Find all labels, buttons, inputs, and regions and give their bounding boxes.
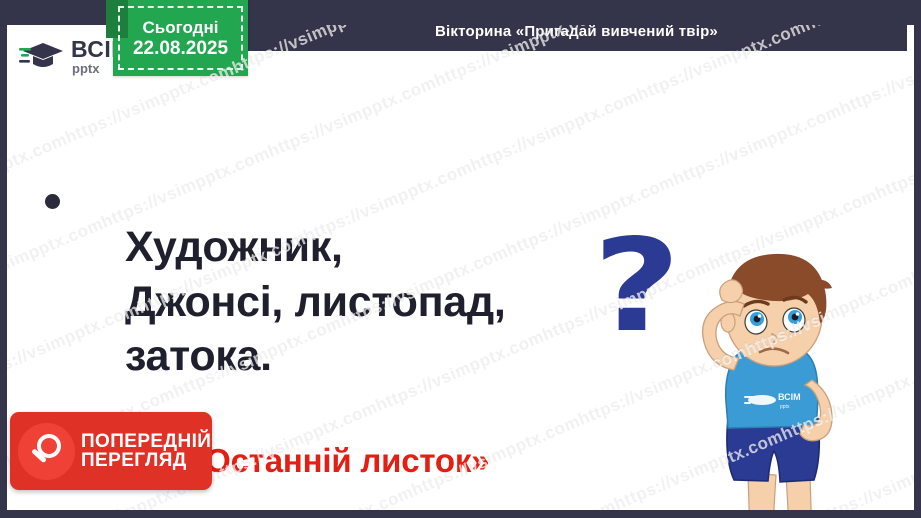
today-label: Сьогодні: [143, 19, 219, 36]
today-date: 22.08.2025: [133, 39, 228, 58]
quiz-clue-text: Художник, Джонсі, листопад, затока.: [125, 220, 645, 384]
preview-badge: ПОПЕРЕДНІЙ ПЕРЕГЛЯД: [10, 412, 212, 490]
presentation-window: https://vsimpptx.com https://vsimpptx.co…: [0, 0, 921, 518]
preview-badge-line2: ПЕРЕГЛЯД: [81, 451, 211, 470]
svg-text:pptx: pptx: [780, 404, 790, 410]
clue-line: Художник,: [125, 220, 645, 275]
graduation-cap-icon: [19, 39, 65, 73]
clue-line: затока.: [125, 329, 645, 384]
today-date-tag: Сьогодні 22.08.2025: [113, 0, 248, 76]
clue-line: Джонсі, листопад,: [125, 275, 645, 330]
quiz-answer-text: «Останній листок»: [187, 442, 489, 480]
thinking-boy-illustration: ВСІМ pptx: [662, 230, 907, 510]
slide-title: Вікторина «Пригадай вивчений твір»: [435, 23, 718, 40]
bullet-point: [45, 194, 60, 209]
slide-header-bar: Вікторина «Пригадай вивчений твір»: [246, 12, 907, 51]
svg-text:ВСІМ: ВСІМ: [778, 392, 801, 402]
magnifier-icon: [18, 423, 75, 480]
preview-badge-line1: ПОПЕРЕДНІЙ: [81, 432, 211, 451]
